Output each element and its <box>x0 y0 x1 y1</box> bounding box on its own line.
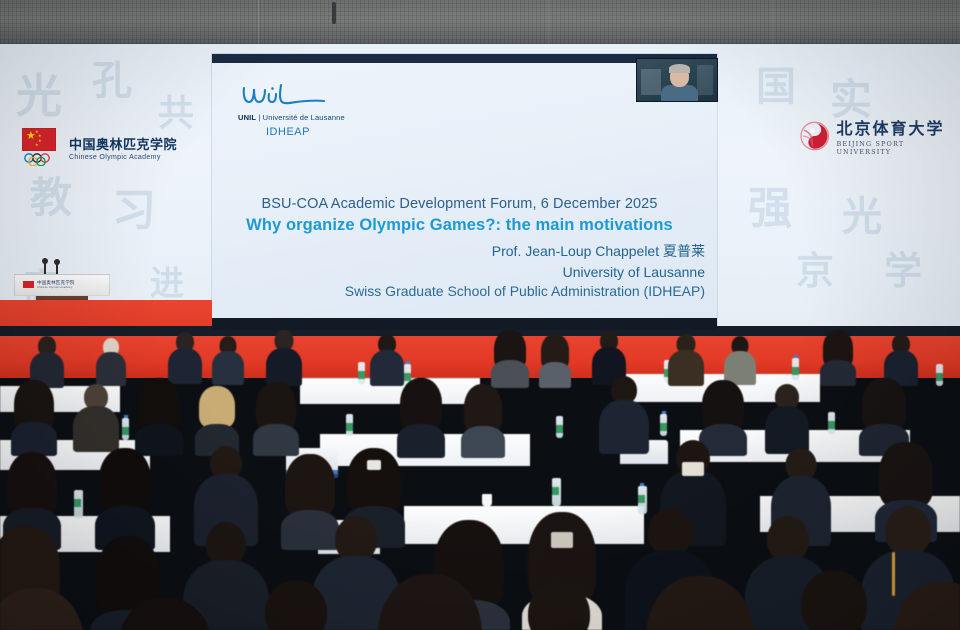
attendee <box>96 448 154 544</box>
attendee <box>724 334 756 384</box>
water-bottle <box>74 490 83 518</box>
attendee-foreground <box>0 588 90 630</box>
attendee <box>668 332 704 384</box>
lectern-sign-english: Chinese Olympic Academy <box>37 286 75 289</box>
attendee-foreground <box>772 570 896 630</box>
attendee-foreground <box>640 576 760 630</box>
lectern-sign-panel: 中国奥林匹克学院 Chinese Olympic Academy <box>14 274 110 296</box>
attendee-foreground <box>112 598 218 630</box>
attendee <box>600 376 648 452</box>
water-bottle <box>346 414 353 436</box>
hair-clip <box>551 532 573 548</box>
water-bottle <box>660 414 667 436</box>
attendee <box>370 332 404 384</box>
screen-lower-shadow <box>212 318 717 330</box>
attendee <box>74 384 118 452</box>
hair-clip <box>367 460 381 470</box>
unil-logo: UNIL | Université de Lausanne IDHEAP <box>238 82 345 138</box>
projection-screen: UNIL | Université de Lausanne IDHEAP BSU… <box>212 54 717 326</box>
olympic-rings-icon <box>22 153 62 166</box>
lectern-flag-icon <box>23 281 34 288</box>
attendee <box>492 330 528 386</box>
chinese-olympic-academy-logo: ★ ★ ★ ★ ★ 中国奥林匹克学院 Chinese Olympic Acade… <box>22 128 177 166</box>
water-bottle <box>122 418 129 440</box>
attendee <box>254 382 298 450</box>
attendee-foreground <box>500 582 618 630</box>
attendee <box>820 330 856 384</box>
bsu-chinese-name: 北京体育大学 <box>836 115 960 139</box>
slide-affiliation: University of Lausanne <box>222 264 705 280</box>
hair-accessory <box>682 462 704 476</box>
coa-english-name: Chinese Olympic Academy <box>69 154 177 161</box>
slide-text-block: BSU-COA Academic Development Forum, 6 De… <box>222 196 705 299</box>
water-bottle <box>936 364 943 386</box>
attendee <box>30 334 64 386</box>
water-bottle <box>552 478 561 506</box>
beijing-sport-university-logo: 北京体育大学 BEIJING SPORT UNIVERSITY <box>800 115 960 156</box>
water-bottle <box>556 416 563 438</box>
attendee <box>168 330 202 382</box>
attendee <box>766 384 808 452</box>
water-bottle <box>828 412 835 434</box>
slide-speaker-name: Prof. Jean-Loup Chappelet 夏普莱 <box>222 241 705 261</box>
speaker-video-feed <box>636 58 718 102</box>
attendee <box>196 386 238 452</box>
paper-cup <box>482 494 492 506</box>
unil-subtitle: UNIL | Université de Lausanne <box>238 113 345 122</box>
coa-chinese-name: 中国奥林匹克学院 <box>69 134 177 153</box>
bsu-english-name: BEIJING SPORT UNIVERSITY <box>836 140 960 156</box>
attendee <box>860 378 908 452</box>
truss-hook-icon <box>332 2 336 24</box>
attendee-foreground <box>888 582 960 630</box>
attendee <box>462 384 504 452</box>
attendee-foreground <box>236 580 356 630</box>
ceiling-truss <box>0 0 960 48</box>
attendee <box>136 378 182 450</box>
unil-script-wordmark-icon <box>238 82 334 112</box>
conference-photo: 光 孔 教 习 共 国 实 强 光 京 学 高 进 ★ ★ ★ ★ ★ <box>0 0 960 630</box>
water-bottle <box>358 362 365 384</box>
slide-school: Swiss Graduate School of Public Administ… <box>222 283 705 299</box>
slide-event-line: BSU-COA Academic Development Forum, 6 De… <box>214 196 705 212</box>
unil-institute-label: IDHEAP <box>266 126 310 138</box>
attendee <box>12 380 56 450</box>
bsu-swirl-emblem-icon <box>800 121 829 151</box>
water-bottle <box>792 358 799 380</box>
attendee <box>96 336 126 384</box>
china-flag-icon: ★ ★ ★ ★ ★ <box>22 128 56 151</box>
attendee <box>212 334 244 384</box>
attendee <box>884 332 918 384</box>
audience-seating <box>0 330 960 630</box>
attendee <box>540 334 570 384</box>
slide-title: Why organize Olympic Games?: the main mo… <box>214 216 705 235</box>
attendee-foreground <box>372 574 488 630</box>
attendee <box>398 378 444 452</box>
attendee <box>266 330 302 384</box>
